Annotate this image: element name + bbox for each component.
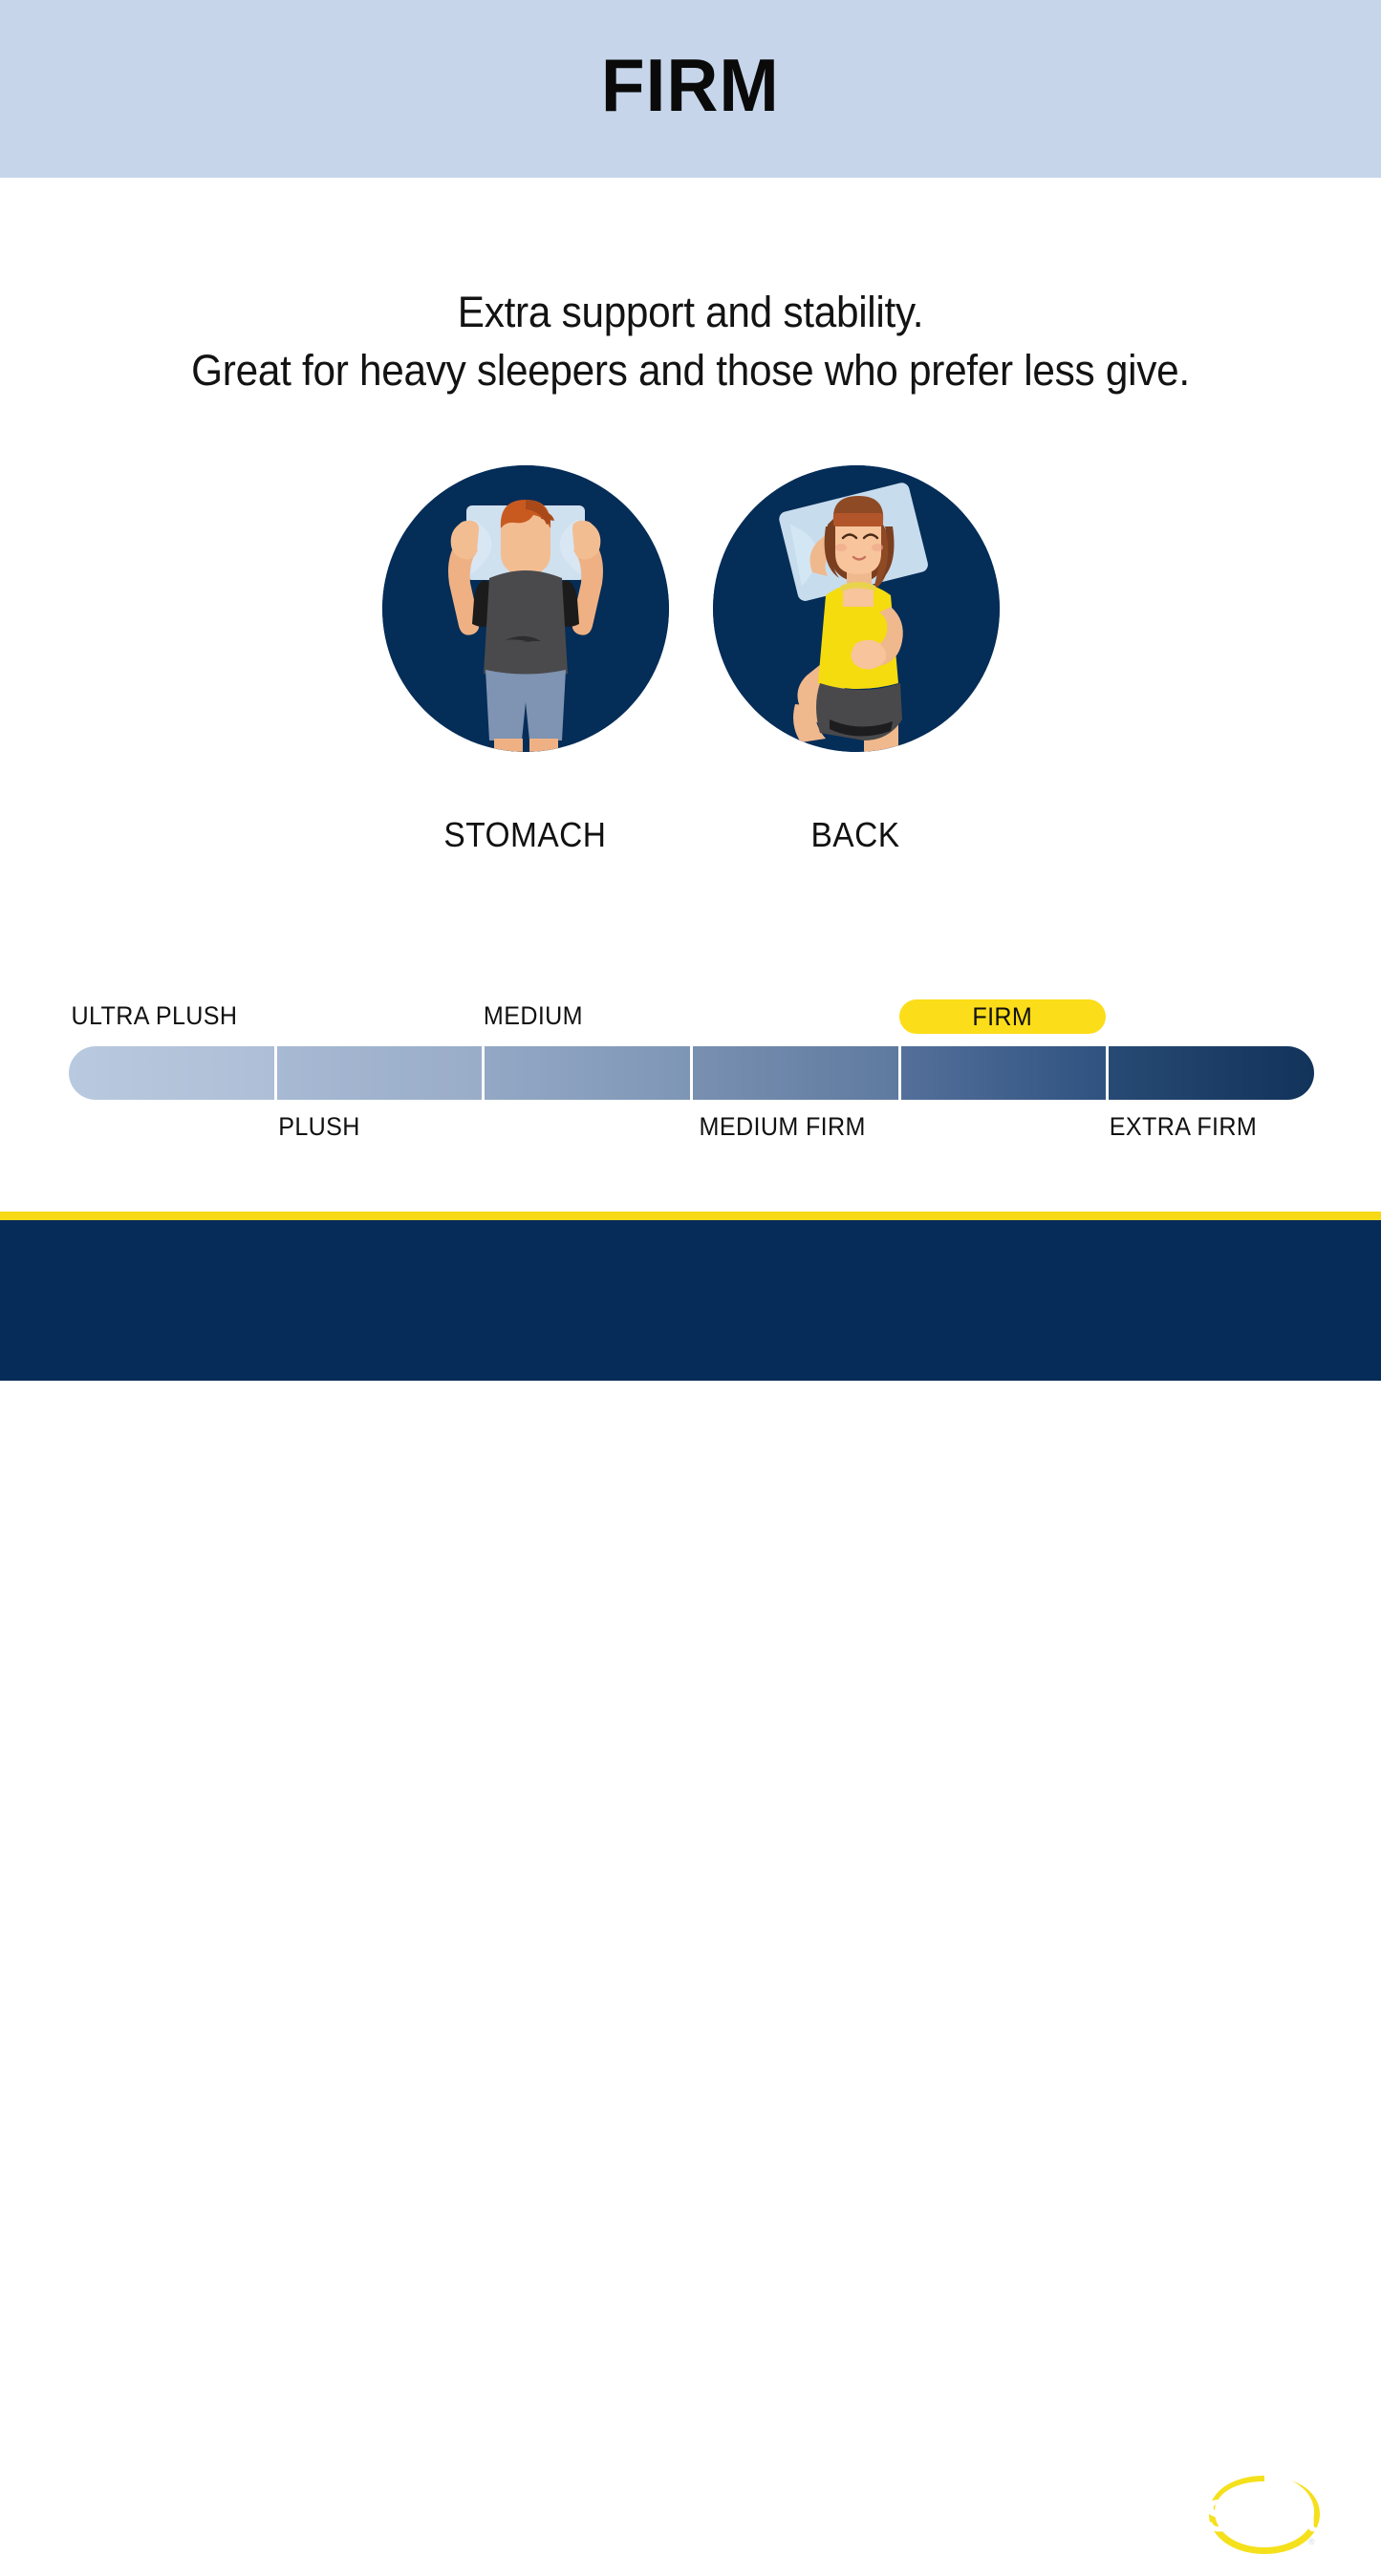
sleep-position-stomach: STOMACH (382, 465, 669, 855)
scale-segment-extra-firm[interactable] (1109, 1046, 1314, 1100)
scale-segment-ultra-plush[interactable] (69, 1046, 277, 1100)
stomach-sleeper-illustration (382, 465, 669, 752)
serta-logo[interactable]: Serta ® (1203, 2464, 1326, 2571)
footer-band: Serta ® (0, 1220, 1381, 1381)
subtitle-block: Extra support and stability. Great for h… (0, 283, 1381, 399)
footer-accent-stripe (0, 1212, 1381, 1220)
scale-label-extra-firm[interactable]: EXTRA FIRM (1110, 1112, 1257, 1142)
scale-label-medium-firm[interactable]: MEDIUM FIRM (700, 1112, 866, 1142)
back-sleeper-illustration (713, 465, 1000, 752)
scale-segment-firm[interactable] (901, 1046, 1110, 1100)
registered-trademark-icon: ® (1308, 2537, 1315, 2546)
scale-label-ultra-plush[interactable]: ULTRA PLUSH (72, 1001, 238, 1031)
sleep-position-back: BACK (713, 465, 1000, 855)
sleep-position-label-stomach: STOMACH (443, 815, 606, 855)
scale-label-plush[interactable]: PLUSH (278, 1112, 360, 1142)
subtitle-line-1: Extra support and stability. (41, 283, 1339, 341)
page-title: FIRM (601, 48, 780, 122)
scale-segment-plush[interactable] (277, 1046, 486, 1100)
scale-segment-medium[interactable] (485, 1046, 693, 1100)
serta-wordmark: Serta (1204, 2490, 1317, 2541)
scale-selected-badge-firm[interactable]: FIRM (899, 999, 1106, 1034)
firmness-scale-bar[interactable] (69, 1046, 1314, 1100)
sleep-position-label-back: BACK (811, 815, 900, 855)
subtitle-line-2: Great for heavy sleepers and those who p… (41, 341, 1339, 399)
firmness-scale: ULTRA PLUSH MEDIUM FIRM PLUSH MEDIUM FIR… (69, 994, 1314, 1161)
scale-segment-medium-firm[interactable] (693, 1046, 901, 1100)
header-band: FIRM (0, 0, 1381, 178)
scale-label-firm: FIRM (973, 1002, 1033, 1032)
scale-label-medium[interactable]: MEDIUM (484, 1001, 583, 1031)
sleep-position-group: STOMACH (0, 465, 1381, 855)
